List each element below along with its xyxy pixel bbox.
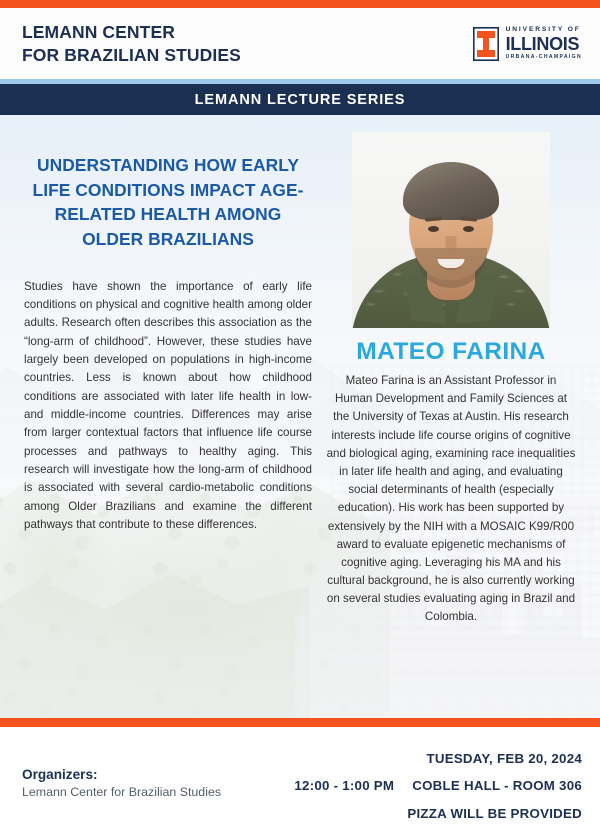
speaker-bio: Mateo Farina is an Assistant Professor i… [320, 372, 582, 627]
event-poster: LEMANN CENTER FOR BRAZILIAN STUDIES UNIV… [0, 0, 600, 840]
headshot-eye-right [463, 226, 474, 232]
poster-body: UNDERSTANDING HOW EARLY LIFE CONDITIONS … [0, 115, 600, 718]
poster-header: LEMANN CENTER FOR BRAZILIAN STUDIES UNIV… [0, 8, 600, 79]
lecture-series-label: LEMANN LECTURE SERIES [195, 92, 406, 108]
headshot-eye-left [428, 226, 439, 232]
illinois-block-i-icon [473, 27, 499, 61]
center-name: LEMANN CENTER FOR BRAZILIAN STUDIES [22, 21, 241, 66]
illinois-wordmark: UNIVERSITY OF ILLINOIS URBANA-CHAMPAIGN [506, 27, 582, 60]
logo-line-university-of: UNIVERSITY OF [506, 27, 581, 34]
event-time: 12:00 - 1:00 PM [294, 778, 394, 793]
abstract-column: UNDERSTANDING HOW EARLY LIFE CONDITIONS … [18, 153, 318, 534]
logo-line-illinois: ILLINOIS [506, 35, 580, 53]
event-time-location-row: 12:00 - 1:00 PMCOBLE HALL - ROOM 306 [294, 772, 582, 799]
talk-title: UNDERSTANDING HOW EARLY LIFE CONDITIONS … [18, 153, 318, 252]
talk-abstract: Studies have shown the importance of ear… [18, 278, 318, 534]
university-of-illinois-logo: UNIVERSITY OF ILLINOIS URBANA-CHAMPAIGN [473, 27, 582, 61]
top-orange-rule [0, 0, 600, 8]
organizers-block: Organizers: Lemann Center for Brazilian … [22, 766, 221, 802]
event-date-row: TUESDAY, FEB 20, 2024 [294, 745, 582, 772]
event-location: COBLE HALL - ROOM 306 [412, 778, 582, 793]
bottom-orange-rule [0, 718, 600, 727]
speaker-headshot-photo [352, 132, 550, 328]
logo-line-urbana-champaign: URBANA-CHAMPAIGN [506, 55, 582, 60]
lecture-series-band: LEMANN LECTURE SERIES [0, 84, 600, 115]
event-details-block: TUESDAY, FEB 20, 2024 12:00 - 1:00 PMCOB… [294, 745, 582, 827]
organizers-name: Lemann Center for Brazilian Studies [22, 784, 221, 802]
poster-content: UNDERSTANDING HOW EARLY LIFE CONDITIONS … [0, 115, 600, 718]
event-date: TUESDAY, FEB 20, 2024 [426, 751, 582, 766]
event-note: PIZZA WILL BE PROVIDED [407, 806, 582, 821]
speaker-column: MATEO FARINA Mateo Farina is an Assistan… [320, 115, 582, 627]
speaker-name: MATEO FARINA [320, 338, 582, 366]
event-note-row: PIZZA WILL BE PROVIDED [294, 800, 582, 827]
poster-footer: Organizers: Lemann Center for Brazilian … [0, 727, 600, 840]
headshot-nose [446, 236, 457, 252]
organizers-label: Organizers: [22, 766, 221, 784]
